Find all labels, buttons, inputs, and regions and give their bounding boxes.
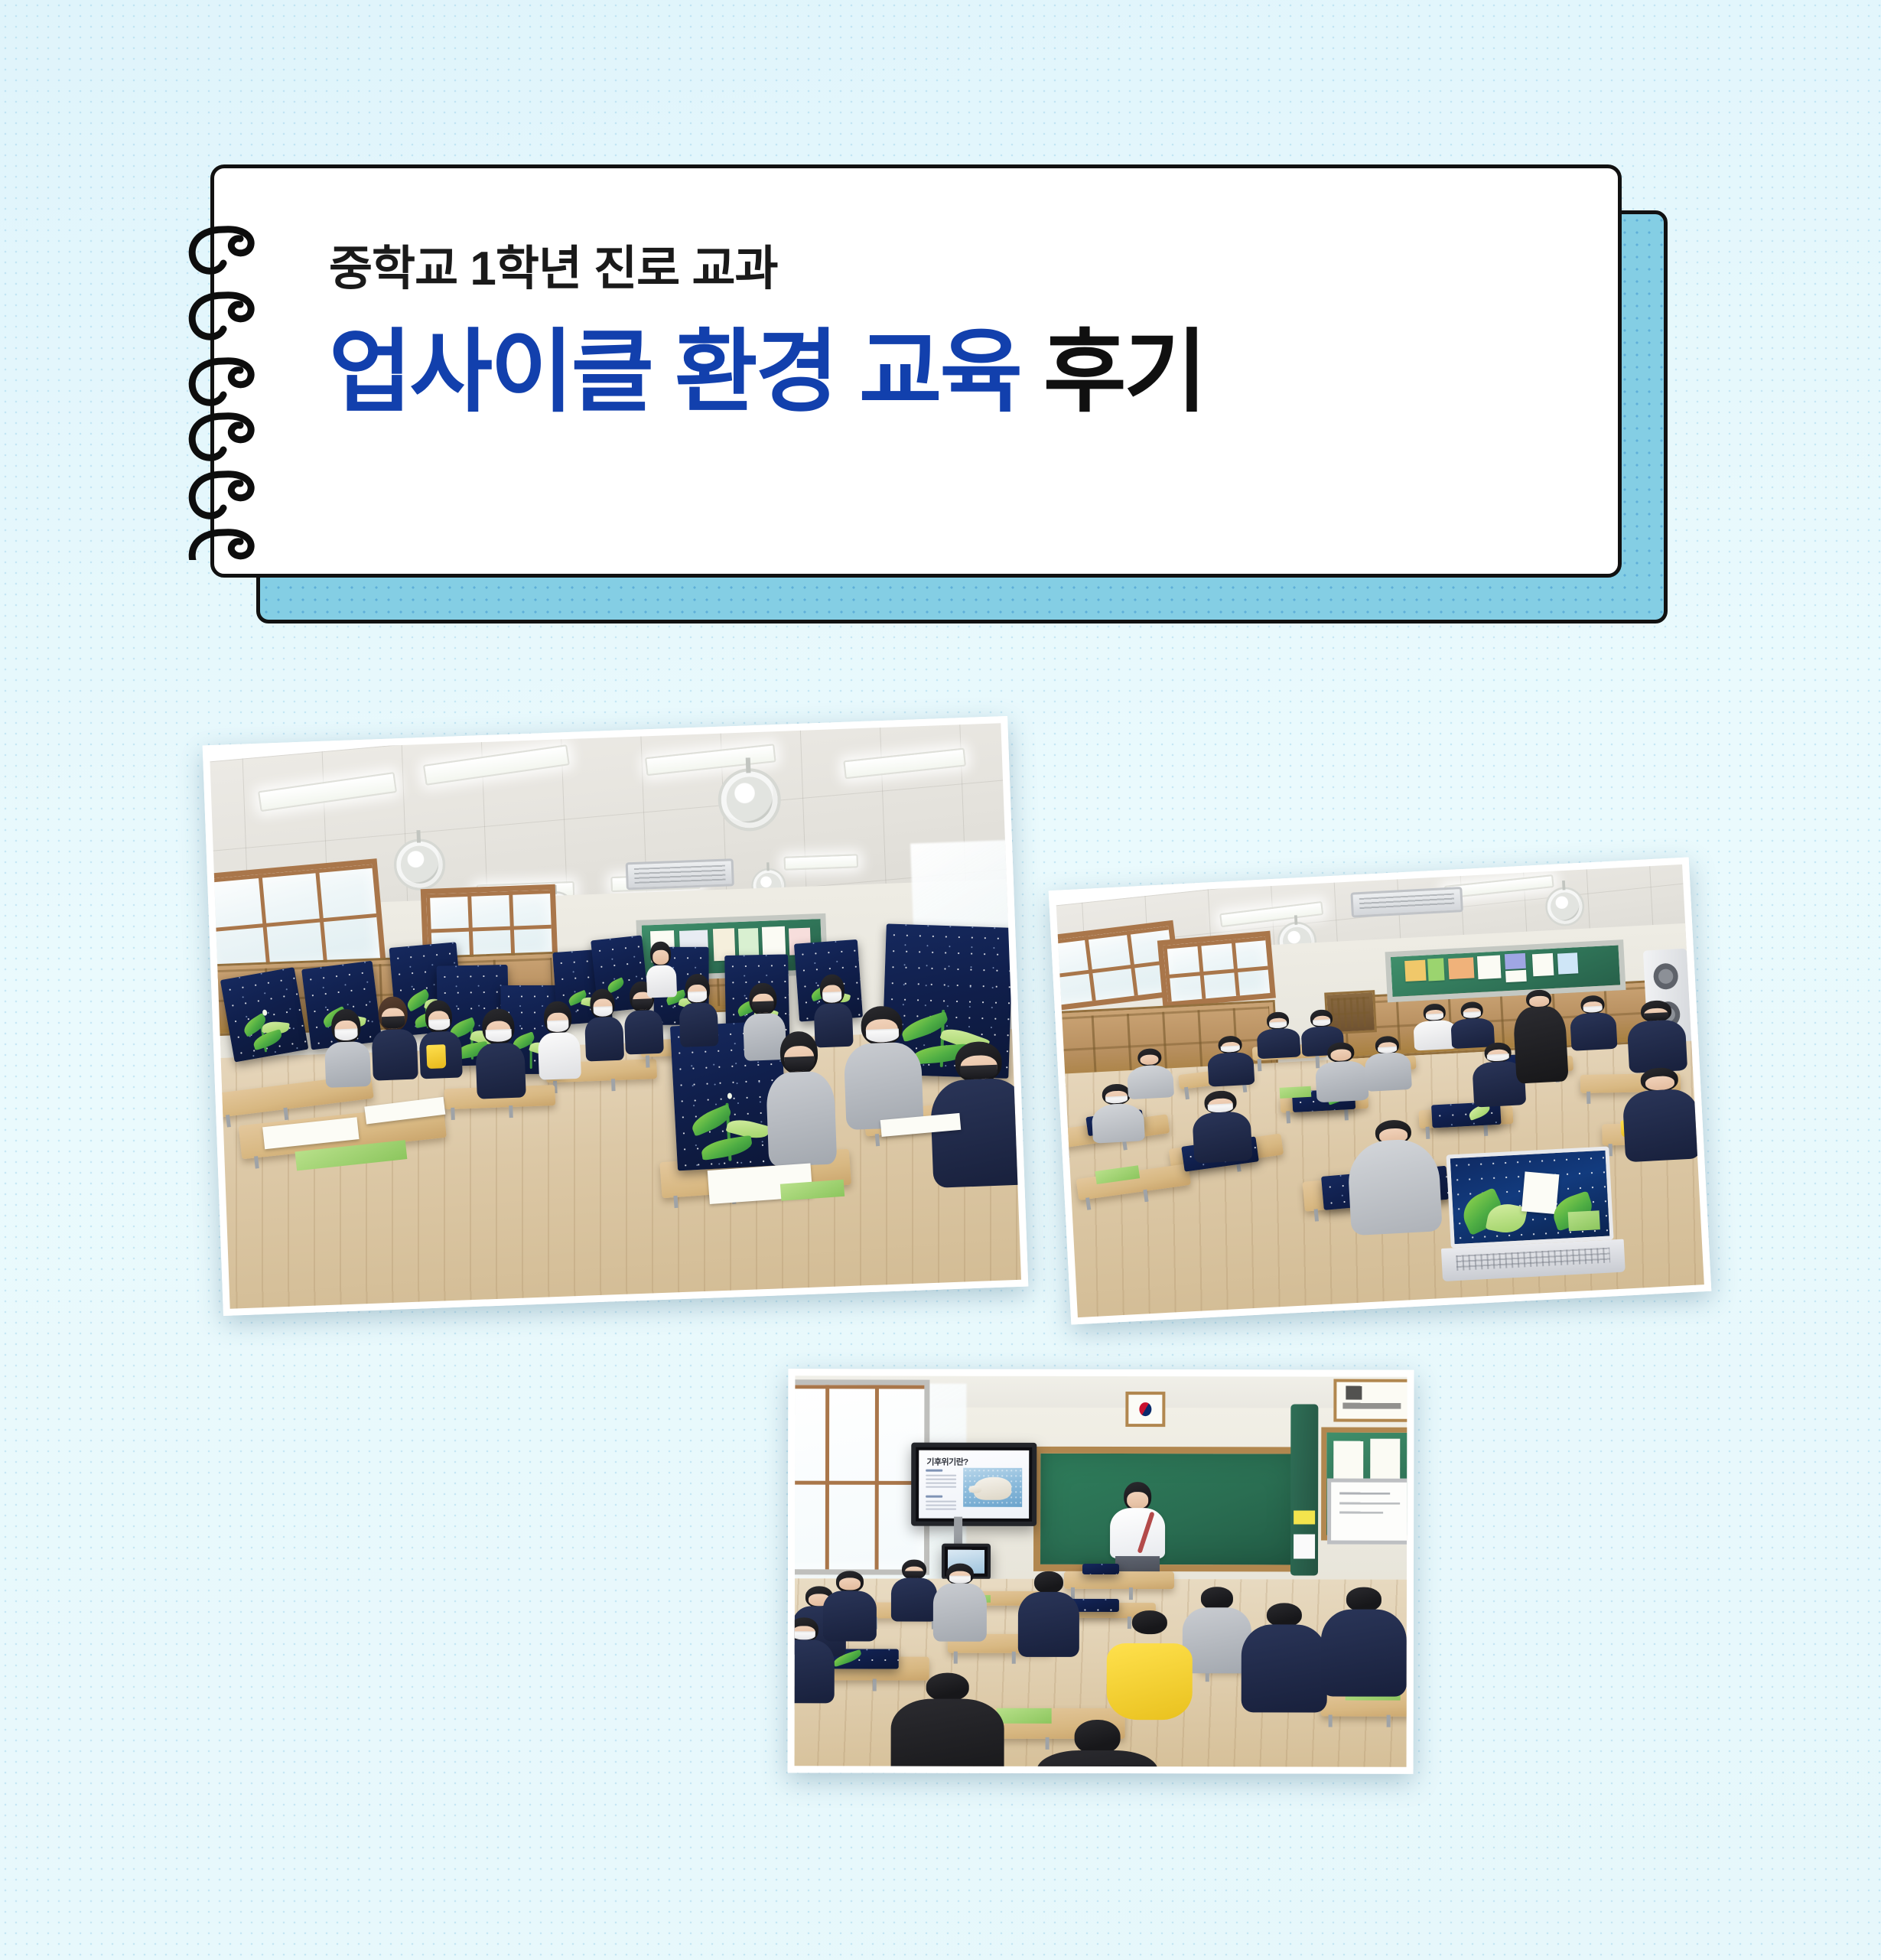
- student: [1624, 1066, 1697, 1163]
- student: [1021, 1571, 1076, 1657]
- student: [583, 988, 625, 1061]
- slide: 기후위기란?: [919, 1450, 1029, 1518]
- yellow-backpack: [1107, 1643, 1193, 1720]
- student: [844, 1005, 920, 1130]
- student: [535, 1001, 582, 1080]
- student: [1248, 1603, 1321, 1712]
- laptop: [1446, 1146, 1616, 1281]
- air-conditioner: [626, 858, 734, 890]
- student: [1127, 1047, 1173, 1100]
- photo-classroom-posters[interactable]: [203, 716, 1029, 1316]
- student: [1450, 1001, 1493, 1049]
- student: [1192, 1089, 1252, 1164]
- student: [1113, 1610, 1186, 1720]
- student: [1045, 1720, 1149, 1767]
- student: [1315, 1041, 1368, 1102]
- photo-teacher-lecture[interactable]: 기후위기란?: [788, 1369, 1414, 1773]
- student: [1208, 1034, 1255, 1087]
- teacher: [1113, 1482, 1162, 1580]
- upcycle-poster: [220, 967, 309, 1063]
- chalkboard: [1033, 1447, 1303, 1572]
- slide-body-text: [926, 1469, 956, 1512]
- student: [677, 973, 719, 1047]
- page-subtitle: 중학교 1학년 진로 교과: [329, 242, 1572, 296]
- student: [936, 1563, 984, 1641]
- photo-classroom-crafting[interactable]: [1049, 857, 1712, 1324]
- whiteboard: [1327, 1478, 1407, 1545]
- student: [766, 1030, 835, 1167]
- page-title: 업사이클 환경 교육 후기: [329, 324, 1572, 423]
- green-paper: [1279, 1086, 1311, 1099]
- student-standing: [1513, 988, 1568, 1083]
- title-card: 중학교 1학년 진로 교과 업사이클 환경 교육 후기: [210, 164, 1622, 578]
- window-left: [795, 1379, 930, 1574]
- student: [1570, 995, 1616, 1051]
- student: [1186, 1587, 1248, 1673]
- page-title-highlight: 업사이클 환경 교육: [329, 322, 1020, 423]
- polar-bear: [974, 1477, 1012, 1500]
- window-middle: [1157, 930, 1276, 1008]
- student: [1257, 1011, 1300, 1060]
- student: [369, 995, 420, 1080]
- student: [1365, 1034, 1411, 1091]
- navy-sample: [1082, 1564, 1119, 1574]
- polar-bear-photo: [963, 1467, 1023, 1507]
- student: [1413, 1003, 1456, 1051]
- student: [825, 1571, 874, 1641]
- student: [899, 1672, 997, 1767]
- student: [893, 1559, 936, 1622]
- student: [1327, 1587, 1401, 1697]
- green-paper: [997, 1708, 1052, 1724]
- board-side-pillar: [1290, 1404, 1318, 1575]
- korean-flag: [1125, 1392, 1165, 1427]
- student: [473, 1008, 527, 1099]
- slide-title: 기후위기란?: [926, 1455, 968, 1467]
- spiral-ring-icon: [164, 216, 278, 560]
- laptop-screen: [1446, 1146, 1613, 1248]
- presentation-screen: 기후위기란?: [911, 1442, 1037, 1525]
- title-card-group: 중학교 1학년 진로 교과 업사이클 환경 교육 후기: [210, 164, 1629, 623]
- student: [1626, 999, 1687, 1073]
- student: [1350, 1118, 1437, 1236]
- school-motto-sign: [1333, 1379, 1407, 1421]
- glue-bottle: [426, 1044, 446, 1068]
- teacher: [644, 941, 678, 998]
- student: [795, 1617, 831, 1703]
- page-title-rest: 후기: [1043, 322, 1205, 423]
- student: [322, 1008, 373, 1088]
